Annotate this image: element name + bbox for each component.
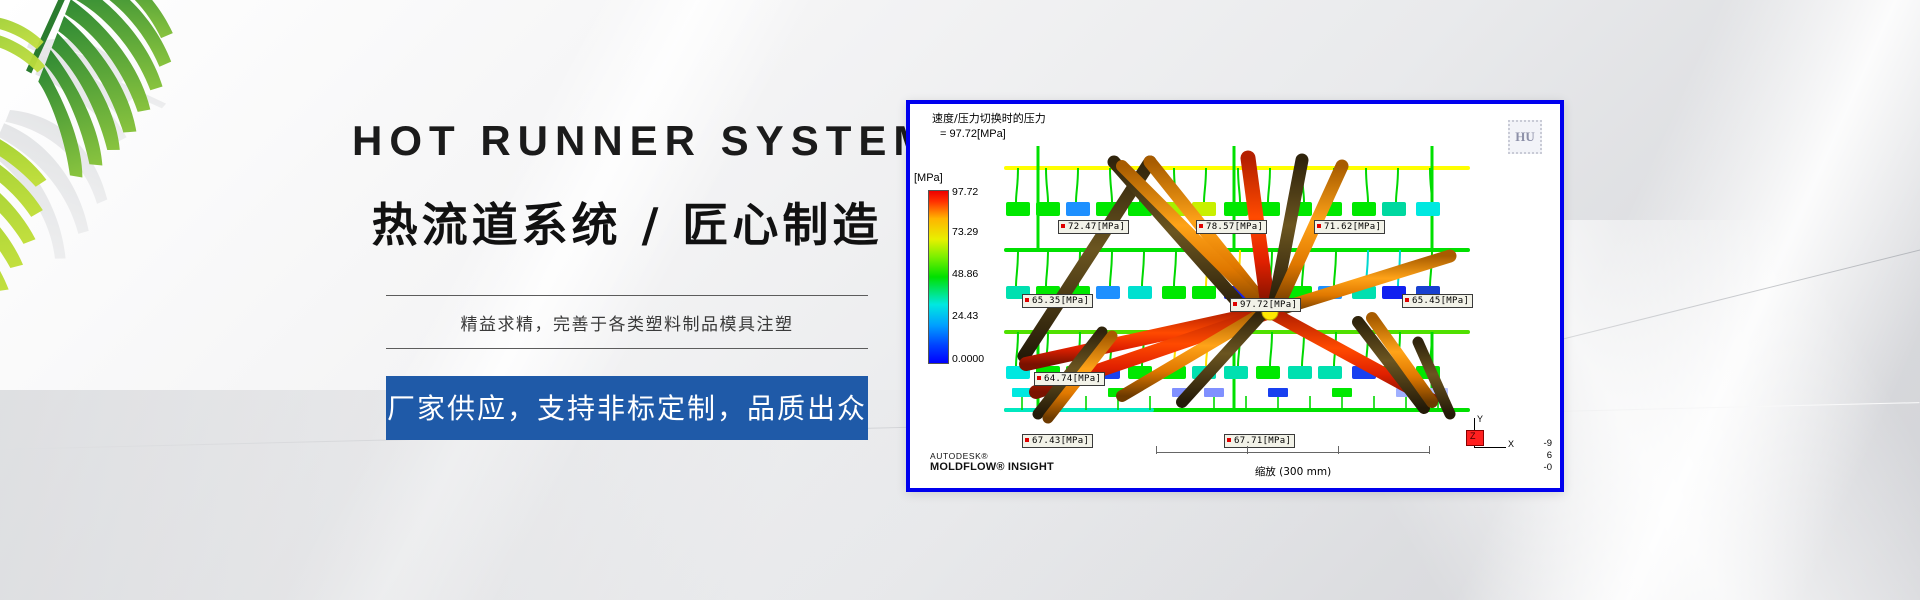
scale-tick-0 — [1156, 446, 1157, 454]
page-title-english: HOT RUNNER SYSTEM — [352, 120, 902, 162]
moldflow-canvas-area: 速度/压力切换时的压力 = 97.72[MPa] HU [MPa] 97.72 … — [910, 104, 1560, 488]
scale-tick-3 — [1429, 446, 1430, 454]
hero-text-block: HOT RUNNER SYSTEM 热流道系统 / 匠心制造 精益求精，完善于各… — [352, 120, 902, 440]
cta-banner[interactable]: 厂家供应，支持非标定制，品质出众 — [386, 376, 868, 440]
scale-tick-1 — [1247, 446, 1248, 454]
scale-bar — [1156, 444, 1430, 460]
data-label-5: 97.72[MPa] — [1230, 298, 1301, 312]
coordinate-z: -0 — [1544, 462, 1552, 474]
scale-bar-caption: 缩放 (300 mm) — [1156, 464, 1430, 479]
view-coordinates: -9 6 -0 — [1544, 438, 1552, 474]
axis-label-y: Y — [1477, 414, 1483, 424]
moldflow-insight-wordmark: MOLDFLOW® INSIGHT — [930, 461, 1054, 474]
scale-bar-line — [1156, 452, 1430, 453]
moldflow-title: 速度/压力切换时的压力 = 97.72[MPa] — [932, 112, 1046, 142]
data-label-3: 71.62[MPa] — [1314, 220, 1385, 234]
hero-banner: HOT RUNNER SYSTEM 热流道系统 / 匠心制造 精益求精，完善于各… — [0, 0, 1920, 600]
coordinate-y: 6 — [1544, 450, 1552, 462]
data-label-6: 65.45[MPa] — [1402, 294, 1473, 308]
palm-leaf-decoration — [0, 0, 330, 300]
moldflow-title-line1: 速度/压力切换时的压力 — [932, 112, 1046, 127]
legend-tick-1: 73.29 — [952, 226, 978, 238]
data-label-8: 67.43[MPa] — [1022, 434, 1093, 448]
data-label-7: 64.74[MPa] — [1034, 372, 1105, 386]
legend-tick-0: 97.72 — [952, 186, 978, 198]
hu-watermark-icon: HU — [1508, 120, 1542, 154]
coordinate-x: -9 — [1544, 438, 1552, 450]
legend-unit-label: [MPa] — [914, 172, 943, 184]
divider-bottom — [386, 348, 868, 349]
page-title-chinese: 热流道系统 / 匠心制造 — [352, 200, 902, 251]
autodesk-moldflow-logo: AUTODESK® MOLDFLOW® INSIGHT — [930, 452, 1054, 474]
subtitle-text: 精益求精，完善于各类塑料制品模具注塑 — [352, 296, 902, 348]
moldflow-analysis-panel: 速度/压力切换时的压力 = 97.72[MPa] HU [MPa] 97.72 … — [906, 100, 1564, 492]
data-label-2: 78.57[MPa] — [1196, 220, 1267, 234]
legend-tick-3: 24.43 — [952, 310, 978, 322]
legend-tick-2: 48.86 — [952, 268, 978, 280]
axis-label-z: Z — [1470, 431, 1476, 441]
color-scale-bar — [928, 190, 949, 364]
autodesk-wordmark: AUTODESK® — [930, 452, 1054, 462]
legend-tick-4: 0.0000 — [952, 353, 984, 365]
scale-tick-2 — [1338, 446, 1339, 454]
axis-label-x: X — [1508, 439, 1514, 449]
data-label-1: 72.47[MPa] — [1058, 220, 1129, 234]
moldflow-title-line2: = 97.72[MPa] — [932, 127, 1046, 142]
data-label-4: 65.35[MPa] — [1022, 294, 1093, 308]
axis-triad-icon: Y X Z — [1466, 410, 1520, 458]
